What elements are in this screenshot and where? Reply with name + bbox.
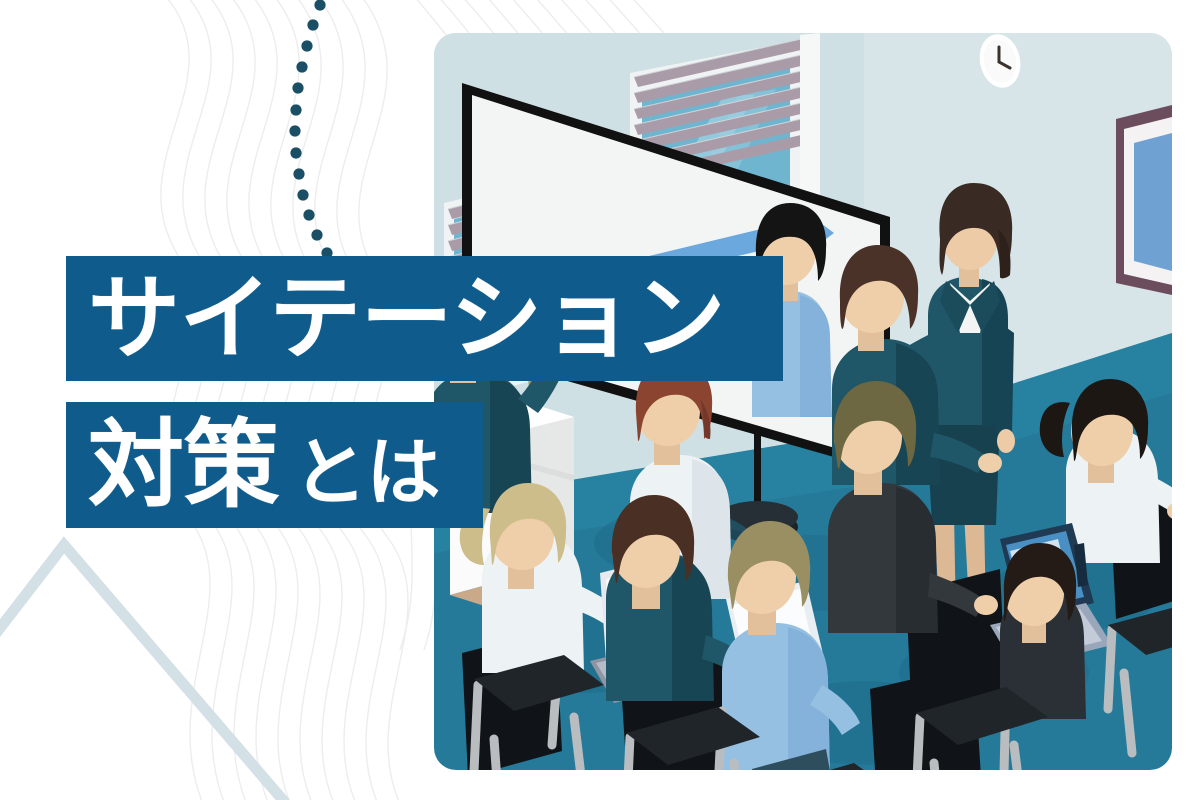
title-box-line-1: サイテーション	[66, 256, 783, 381]
poster-canvas: サイテーション 対策 とは	[0, 0, 1200, 800]
title-text-line-2-suffix: とは	[293, 436, 440, 510]
title-text-line-2-main: 対策	[88, 417, 279, 513]
seminar-room-illustration	[434, 33, 1172, 770]
title-box-line-2: 対策 とは	[66, 402, 483, 528]
framed-picture	[1116, 105, 1172, 295]
title-text-line-1: サイテーション	[88, 273, 725, 365]
